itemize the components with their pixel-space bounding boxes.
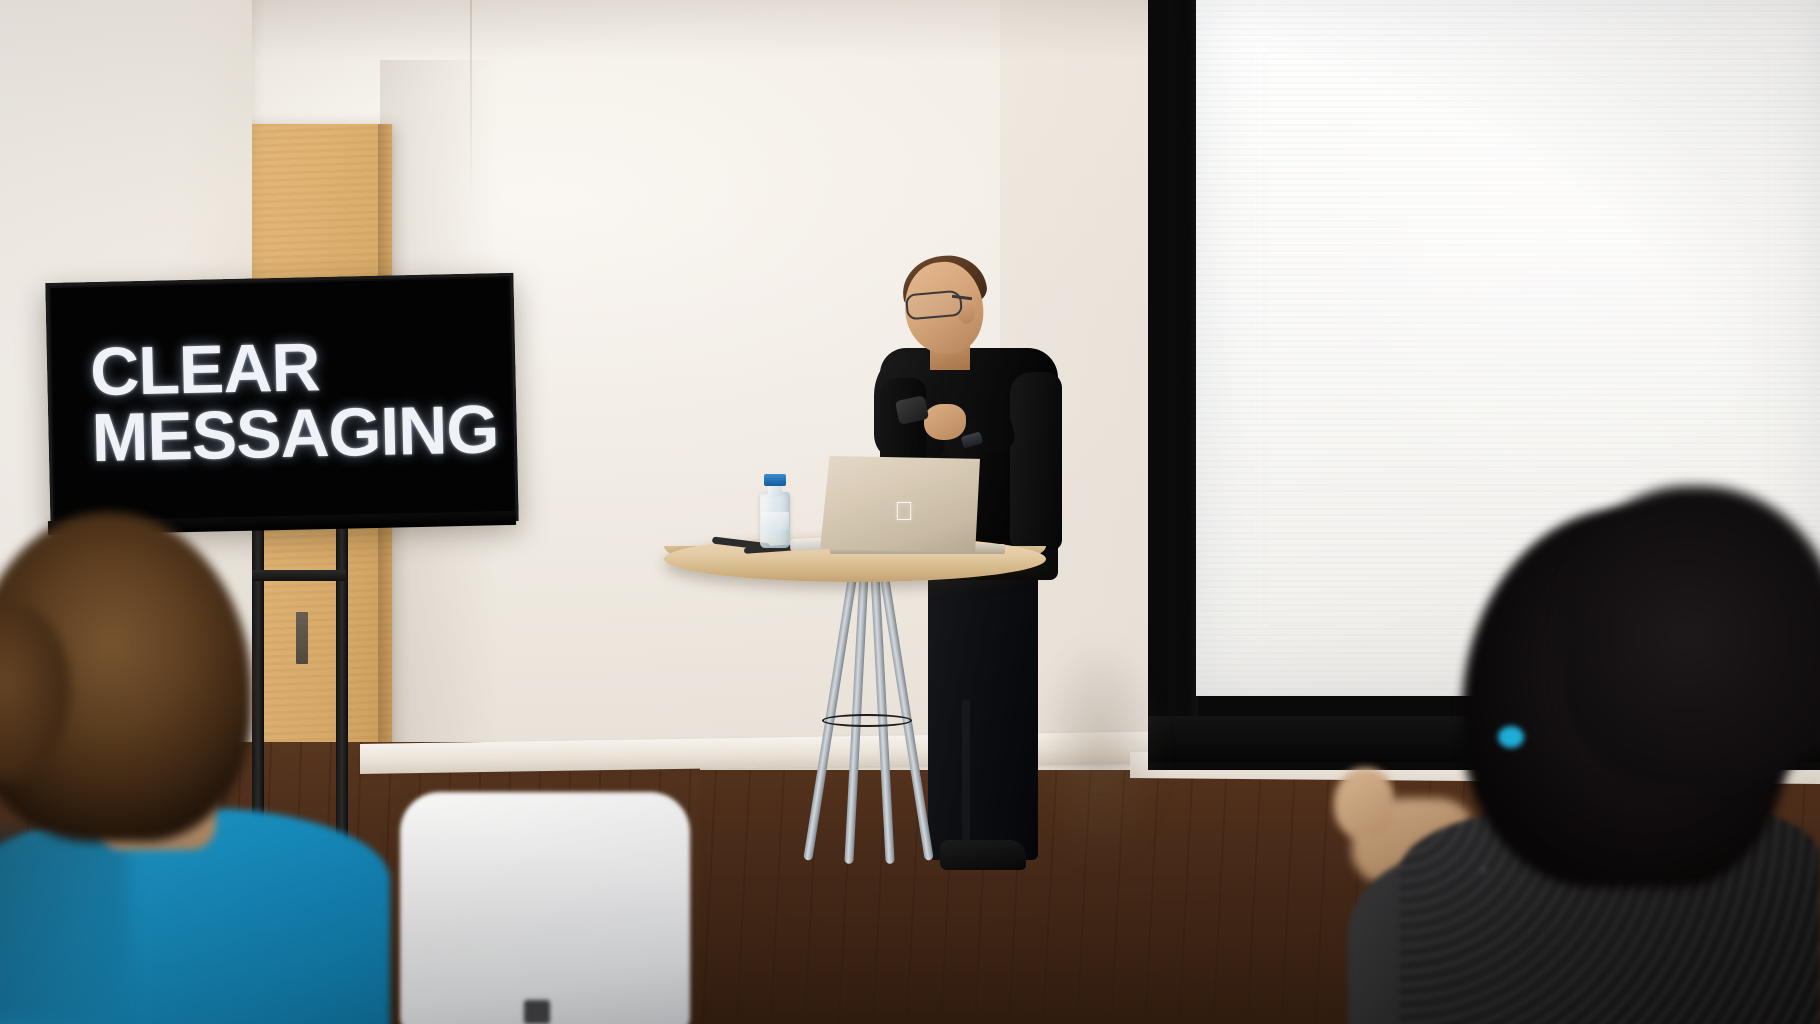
screen-tension-tab xyxy=(1176,40,1186,56)
screen-tension-tab xyxy=(1176,132,1186,148)
screen-tension-tab xyxy=(1176,318,1186,334)
bottle-label xyxy=(761,512,789,530)
presenter-wall-shadow xyxy=(1040,640,1190,870)
audience-right-hair-highlight xyxy=(1560,486,1820,786)
presentation-display[interactable]: CLEAR MESSAGING xyxy=(45,273,518,531)
audience-left-top-shading xyxy=(0,828,130,1024)
screen-tension-tab xyxy=(1176,600,1186,616)
tv-stand-shelf xyxy=(252,570,346,581)
screen-tension-tab xyxy=(1176,224,1186,240)
presenter-right-arm xyxy=(1010,372,1062,550)
table-footrest-ring xyxy=(822,714,912,727)
presenter-legs xyxy=(928,560,1038,860)
audience-right-hand xyxy=(1334,768,1394,838)
panel-slit-detail xyxy=(296,612,308,664)
wall-seam-line xyxy=(470,0,472,200)
presentation-room-scene: CLEAR MESSAGING  xyxy=(0,0,1820,1024)
presenter-shoe xyxy=(940,840,1026,870)
audience-right-earring xyxy=(1498,726,1524,748)
bottle-cap[interactable] xyxy=(764,474,786,486)
display-screen-content: CLEAR MESSAGING xyxy=(50,278,513,526)
presenter-hand xyxy=(924,404,966,440)
apple-logo-icon:  xyxy=(893,498,915,524)
presenter-leg-seam xyxy=(962,700,970,855)
display-headline-line2: MESSAGING xyxy=(91,397,512,472)
screen-tension-tab xyxy=(1176,412,1186,428)
screen-tension-tab xyxy=(1176,506,1186,522)
chair xyxy=(400,792,690,1024)
chair-detail xyxy=(524,1000,550,1024)
